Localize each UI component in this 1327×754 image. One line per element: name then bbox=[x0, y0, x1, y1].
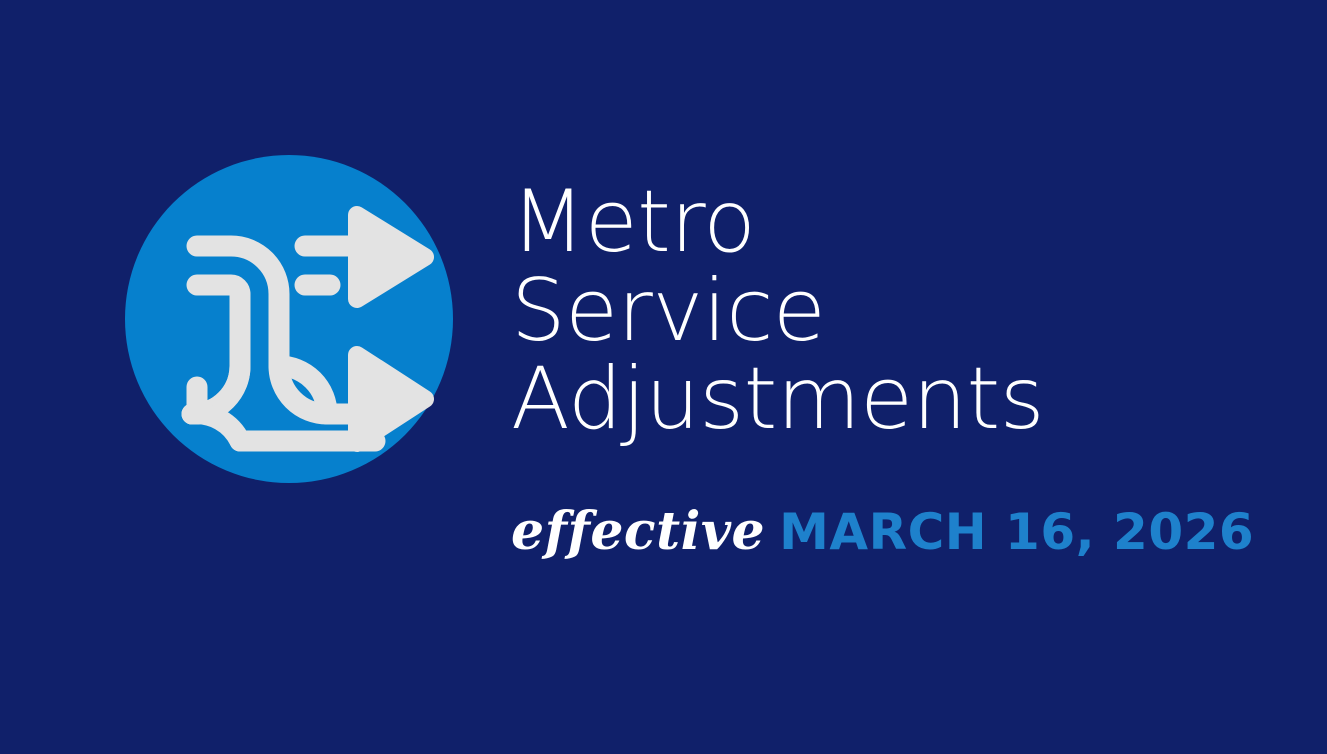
badge bbox=[125, 155, 453, 483]
effective-date-value: MARCH 16, 2026 bbox=[779, 503, 1254, 561]
arrow-right-bottom-icon bbox=[357, 355, 425, 443]
headline-line-1: Metro bbox=[511, 178, 1271, 267]
arrow-right-top-icon bbox=[357, 215, 425, 299]
headline-line-3: Adjustments bbox=[511, 355, 1271, 444]
page-title: Metro Service Adjustments bbox=[511, 178, 1271, 444]
service-adjustment-poster: Metro Service Adjustments effectiveMARCH… bbox=[0, 0, 1327, 754]
effective-date-line: effectiveMARCH 16, 2026 bbox=[511, 506, 1271, 558]
poster-text-block: Metro Service Adjustments effectiveMARCH… bbox=[511, 178, 1271, 558]
effective-label: effective bbox=[511, 501, 765, 562]
route-swap-icon bbox=[125, 155, 453, 483]
headline-line-2: Service bbox=[511, 267, 1271, 356]
